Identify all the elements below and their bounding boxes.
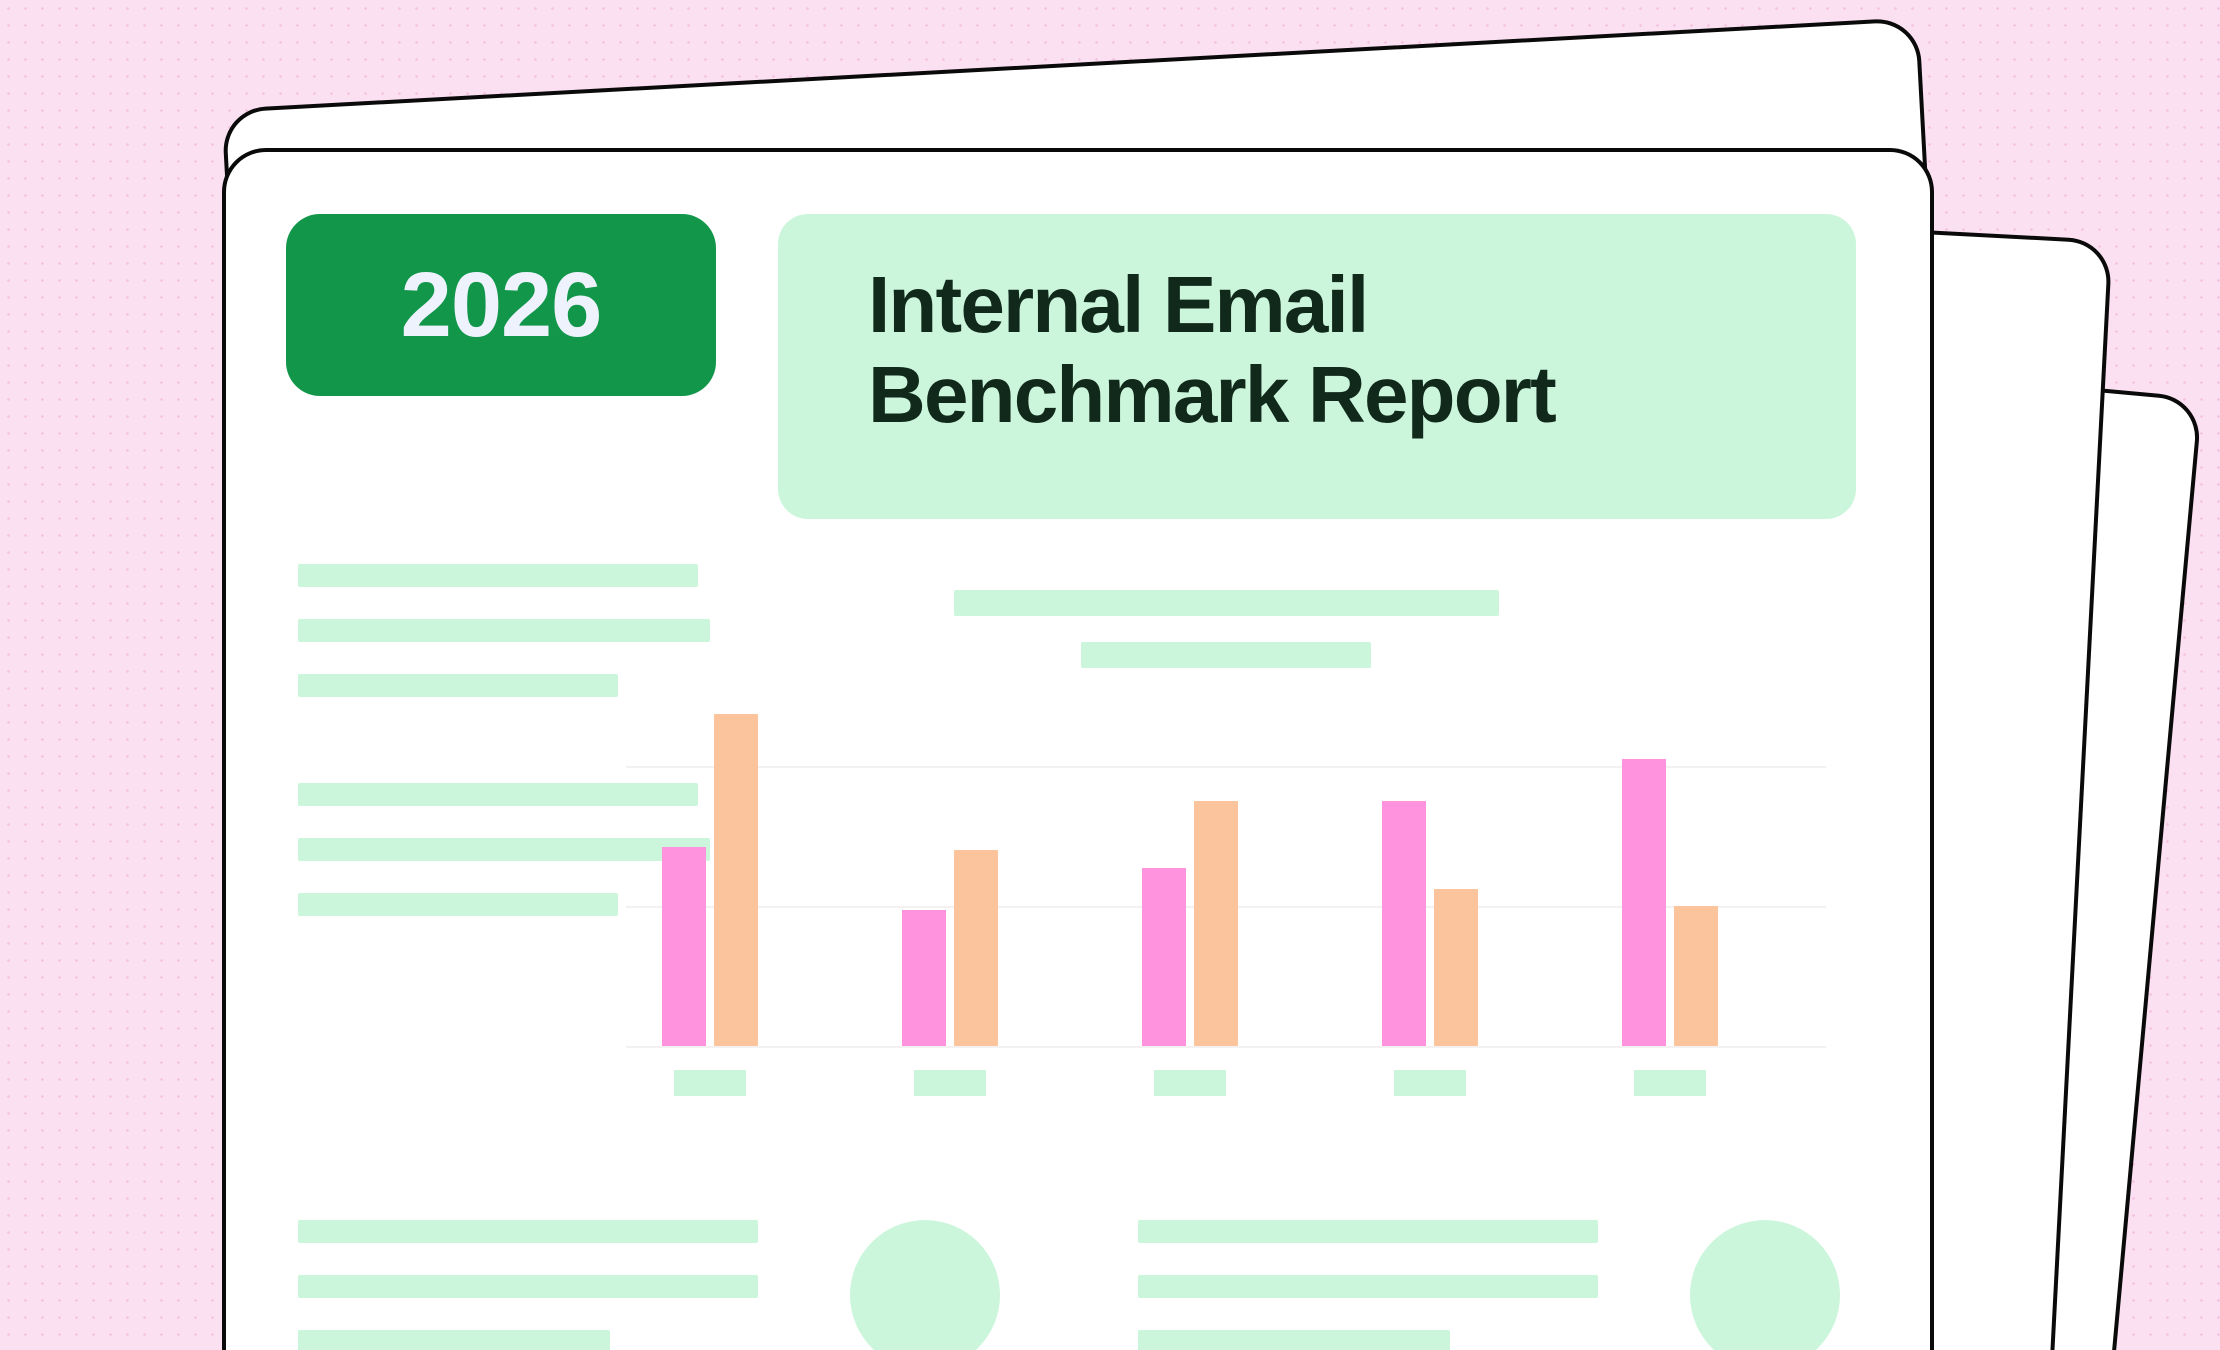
chart-bar-group: [1382, 801, 1478, 1046]
chart-x-label-placeholder: [674, 1070, 746, 1096]
benchmark-bar-chart: [626, 590, 1826, 1150]
chart-plot-area: [626, 698, 1826, 1048]
chart-bar: [662, 847, 706, 1047]
chart-bar: [954, 850, 998, 1046]
report-header: 2026 Internal Email Benchmark Report: [286, 214, 1886, 524]
report-sheet: 2026 Internal Email Benchmark Report: [222, 148, 1934, 1350]
placeholder-line: [1138, 1275, 1598, 1298]
placeholder-line: [1138, 1220, 1598, 1243]
chart-bar-group: [662, 714, 758, 1047]
bottom-right-lines: [1138, 1220, 1628, 1350]
chart-x-label-placeholder: [914, 1070, 986, 1096]
chart-bar: [1622, 759, 1666, 1046]
chart-x-axis-labels: [626, 1070, 1826, 1100]
chart-title-placeholder: [954, 590, 1499, 616]
bottom-left-lines: [298, 1220, 788, 1350]
chart-bar-group: [1622, 759, 1718, 1046]
placeholder-line: [298, 564, 698, 587]
chart-bar-group: [902, 850, 998, 1046]
placeholder-line: [298, 1275, 758, 1298]
placeholder-line: [298, 674, 618, 697]
chart-bar: [1194, 801, 1238, 1046]
bottom-right-block: [1138, 1220, 1858, 1350]
chart-x-label-placeholder: [1154, 1070, 1226, 1096]
placeholder-line: [1138, 1330, 1450, 1350]
chart-x-label-placeholder: [1634, 1070, 1706, 1096]
bottom-left-block: [298, 1220, 1018, 1350]
placeholder-line: [298, 1220, 758, 1243]
report-title-line-1: Internal Email: [868, 260, 1798, 350]
chart-bar: [1382, 801, 1426, 1046]
chart-bar: [1434, 889, 1478, 1047]
chart-bar: [1142, 868, 1186, 1047]
chart-bar: [1674, 906, 1718, 1046]
year-badge-label: 2026: [401, 259, 602, 351]
chart-baseline: [626, 1046, 1826, 1048]
placeholder-line: [298, 893, 618, 916]
chart-x-label-placeholder: [1394, 1070, 1466, 1096]
bottom-right-circle-placeholder: [1690, 1220, 1840, 1350]
report-title-line-2: Benchmark Report: [868, 350, 1798, 440]
report-title-card: Internal Email Benchmark Report: [778, 214, 1856, 519]
chart-bar: [714, 714, 758, 1047]
bottom-left-circle-placeholder: [850, 1220, 1000, 1350]
year-badge: 2026: [286, 214, 716, 396]
chart-subtitle-placeholder: [1081, 642, 1371, 668]
chart-bar-group: [1142, 801, 1238, 1046]
chart-bar: [902, 910, 946, 1047]
placeholder-line: [298, 1330, 610, 1350]
chart-heading: [626, 590, 1826, 668]
